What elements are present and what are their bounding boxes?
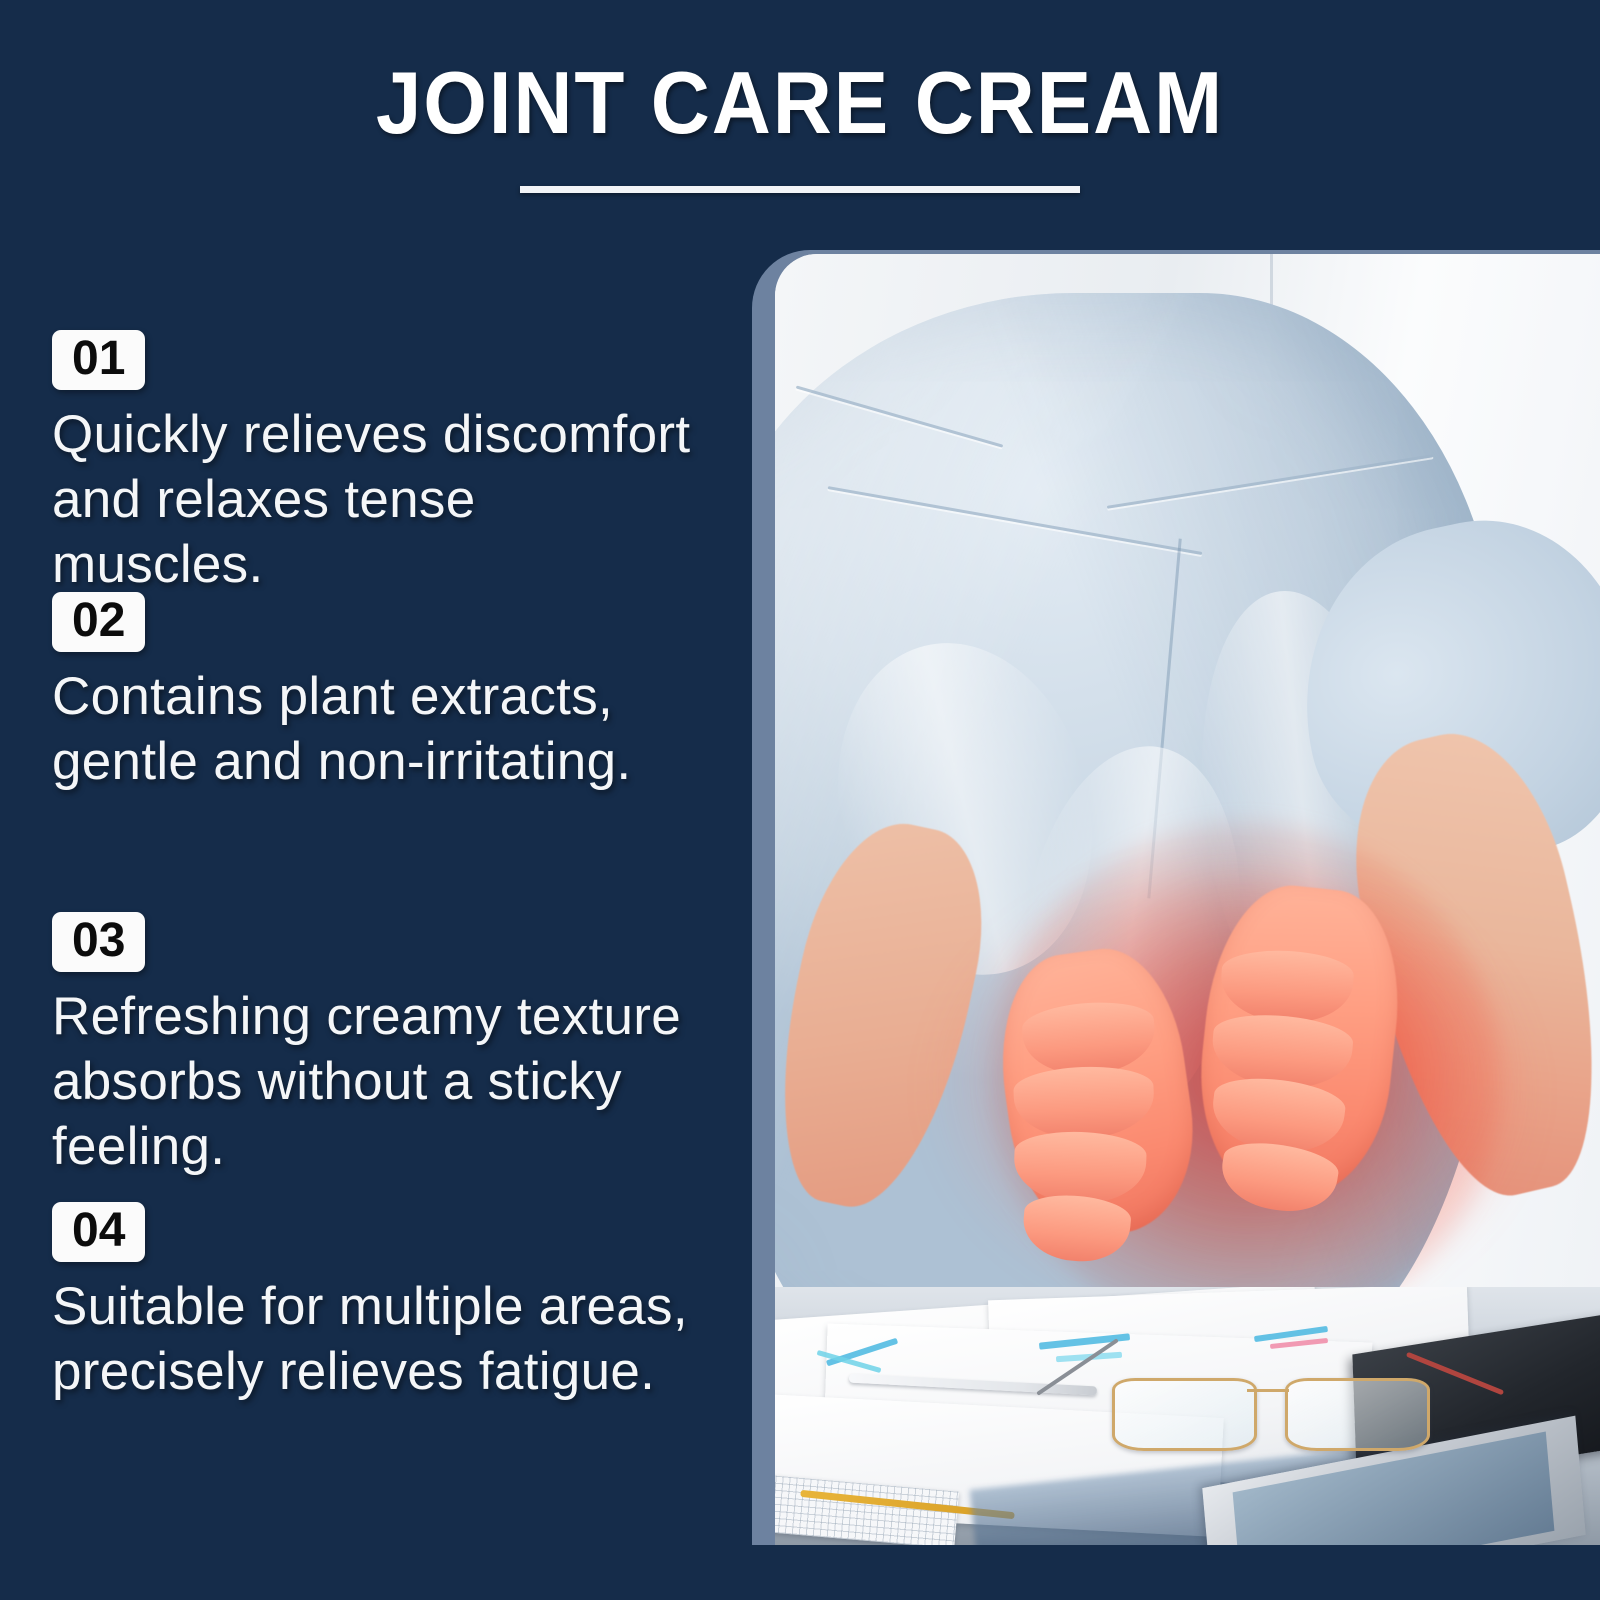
feature-item: 02 Contains plant extracts, gentle and n… — [52, 592, 712, 794]
page-title: JOINT CARE CREAM — [56, 56, 1544, 149]
feature-description: Refreshing creamy texture absorbs withou… — [52, 984, 692, 1180]
eyeglass-lens — [1285, 1378, 1430, 1451]
product-photo-panel — [752, 250, 1600, 1545]
feature-number-badge: 01 — [52, 330, 145, 390]
feature-item: 01 Quickly relieves discomfort and relax… — [52, 330, 712, 597]
title-divider — [520, 186, 1080, 193]
header: JOINT CARE CREAM — [0, 56, 1600, 193]
feature-number-badge: 03 — [52, 912, 145, 972]
eyeglass-bridge — [1247, 1389, 1289, 1392]
feature-number-badge: 02 — [52, 592, 145, 652]
eyeglass-lens — [1112, 1378, 1257, 1451]
back-pain-photo — [775, 254, 1600, 1545]
feature-number-badge: 04 — [52, 1202, 145, 1262]
product-feature-card: JOINT CARE CREAM 01 Quickly relieves dis… — [0, 0, 1600, 1600]
feature-description: Suitable for multiple areas, precisely r… — [52, 1274, 692, 1404]
desk-foreground — [775, 1287, 1600, 1545]
eyeglasses — [1105, 1354, 1452, 1462]
feature-description: Quickly relieves discomfort and relaxes … — [52, 402, 692, 598]
feature-item: 04 Suitable for multiple areas, precisel… — [52, 1202, 712, 1404]
feature-item: 03 Refreshing creamy texture absorbs wit… — [52, 912, 712, 1179]
feature-description: Contains plant extracts, gentle and non-… — [52, 664, 692, 794]
